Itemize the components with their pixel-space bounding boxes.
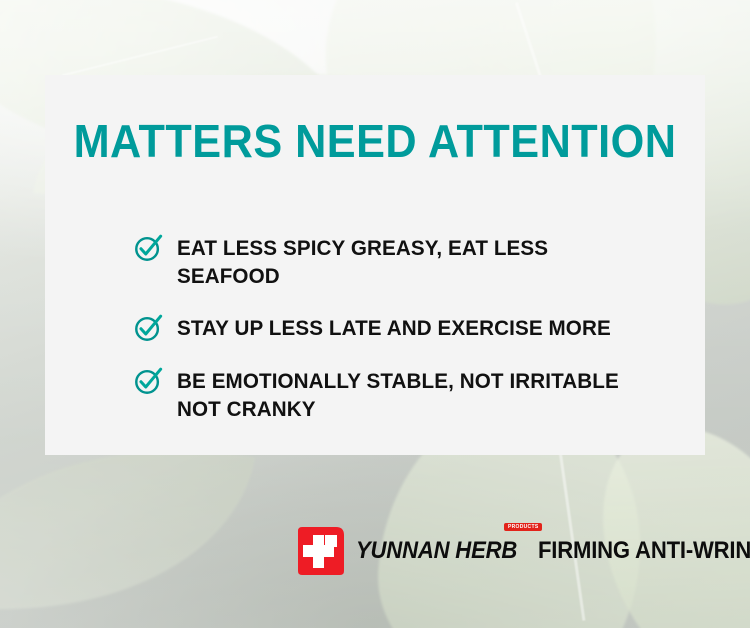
brand-footer: YUNNAN HERB FIRMING ANTI-WRINKLE CREAM P… — [298, 527, 750, 575]
brand-lockup: YUNNAN HERB FIRMING ANTI-WRINKLE CREAM P… — [356, 537, 750, 565]
list-item: EAT LESS SPICY GREASY, EAT LESS SEAFOOD — [133, 232, 675, 290]
list-item: BE EMOTIONALLY STABLE, NOT IRRITABLE NOT… — [133, 365, 675, 423]
check-circle-icon — [133, 313, 163, 343]
check-circle-icon — [133, 233, 163, 263]
content-card: MATTERS NEED ATTENTION EAT LESS SPICY GR… — [45, 75, 705, 455]
page-title: MATTERS NEED ATTENTION — [65, 118, 685, 164]
list-item-label: STAY UP LESS LATE AND EXERCISE MORE — [177, 312, 611, 343]
list-item-label: EAT LESS SPICY GREASY, EAT LESS SEAFOOD — [177, 232, 655, 290]
check-circle-icon — [133, 366, 163, 396]
brand-name-italic: YUNNAN HERB — [356, 537, 517, 565]
list-item-label: BE EMOTIONALLY STABLE, NOT IRRITABLE NOT… — [177, 365, 619, 423]
brand-product-name: FIRMING ANTI-WRINKLE CREAM — [538, 537, 750, 565]
medical-cross-logo-icon — [298, 527, 344, 575]
attention-list: EAT LESS SPICY GREASY, EAT LESS SEAFOOD … — [133, 232, 675, 423]
list-item: STAY UP LESS LATE AND EXERCISE MORE — [133, 312, 675, 343]
brand-badge: PRODUCTS — [504, 523, 542, 531]
